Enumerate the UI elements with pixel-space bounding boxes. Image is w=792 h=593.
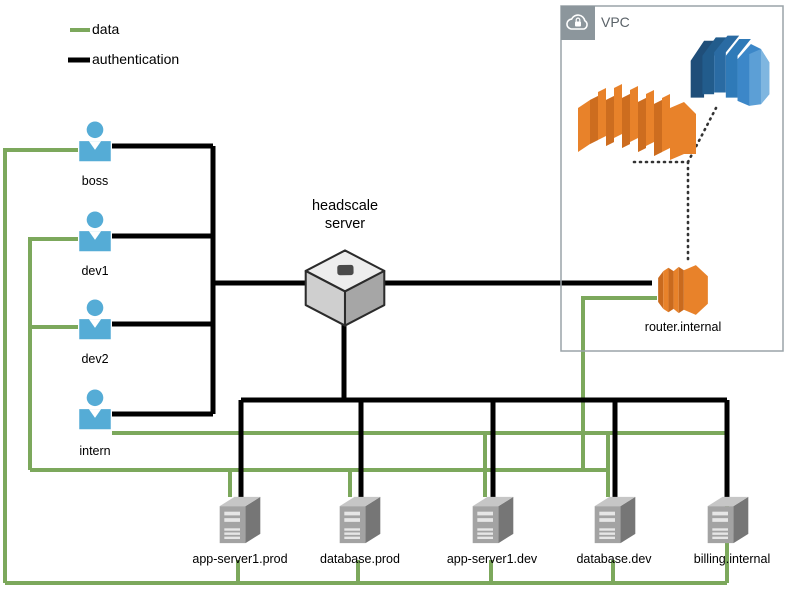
server-label-app-server1-prod: app-server1.prod [180,552,300,566]
legend-label-authentication: authentication [92,51,179,67]
user-icon-boss[interactable] [79,121,111,161]
server-icon-database-prod[interactable] [340,497,381,543]
server-label-database-prod: database.prod [305,552,415,566]
server-icon-billing-internal[interactable] [708,497,749,543]
user-icon-dev2[interactable] [79,299,111,339]
diagram-canvas: data authentication VPC boss dev1 dev2 i… [0,0,792,593]
user-label-dev2: dev2 [55,352,135,366]
headscale-label-line2: server [289,216,401,233]
server-icon-app-server1-prod[interactable] [220,497,261,543]
aws-router-icon[interactable] [658,265,708,315]
server-label-billing-internal: billing.internal [676,552,788,566]
user-icon-intern[interactable] [79,389,111,429]
server-icon-database-dev[interactable] [595,497,636,543]
server-label-database-dev: database.dev [561,552,667,566]
server-icon-app-server1-dev[interactable] [473,497,514,543]
user-icon-dev1[interactable] [79,211,111,251]
aws-instances-blue-icon [691,36,770,106]
user-label-intern: intern [55,444,135,458]
legend-swatches [68,30,90,60]
diagram-svg [0,0,792,593]
legend-label-data: data [92,21,119,37]
headscale-label-line1: headscale [289,198,401,215]
server-cube-icon[interactable] [306,250,385,325]
vpc-label: VPC [601,14,630,30]
aws-instances-orange-icon [578,84,696,160]
user-label-dev1: dev1 [55,264,135,278]
user-label-boss: boss [55,174,135,188]
vpc-node-label-router: router.internal [613,320,753,334]
server-label-app-server1-dev: app-server1.dev [434,552,550,566]
